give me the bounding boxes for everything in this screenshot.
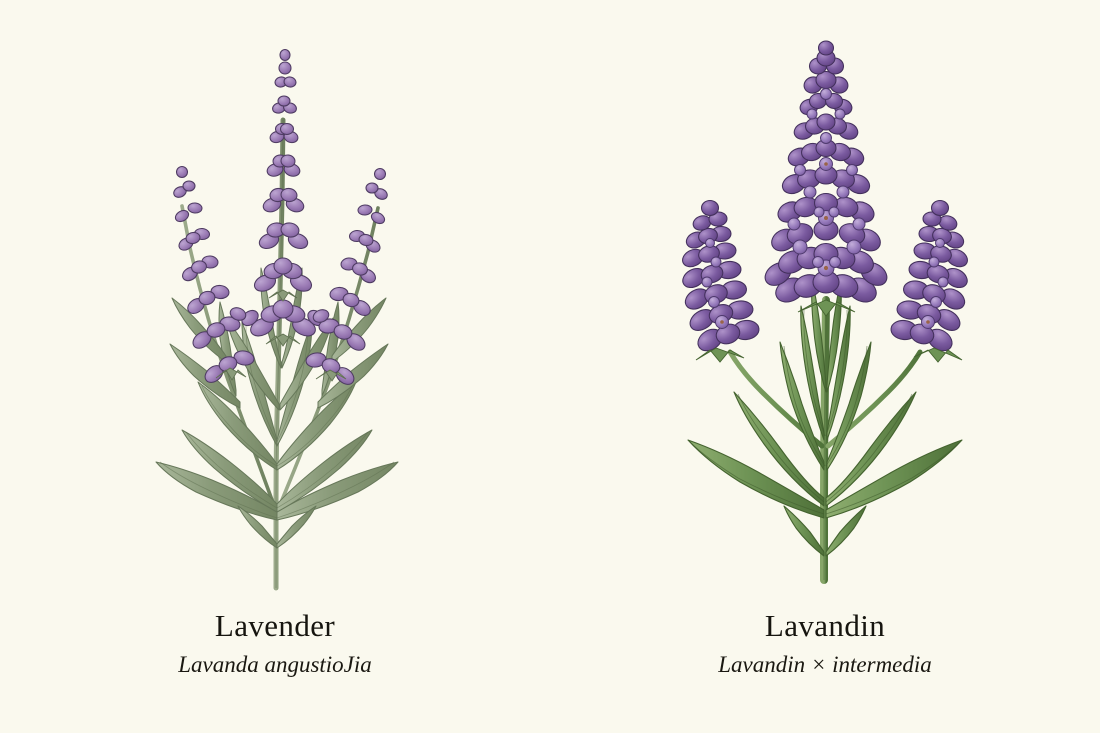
specimen-scientific-name-lavandin: Lavandin × intermedia	[550, 652, 1100, 678]
lavandin-illustration	[550, 0, 1100, 600]
lavandin-plant	[679, 41, 970, 580]
specimen-scientific-name-lavender: Lavanda angustioJia	[0, 652, 550, 678]
specimen-panel-lavender: Lavender Lavanda angustioJia	[0, 0, 550, 733]
specimen-panel-lavandin: Lavandin Lavandin × intermedia	[550, 0, 1100, 733]
lavandin-spike-left	[679, 201, 760, 356]
lavender-illustration	[0, 0, 550, 600]
specimen-common-name-lavender: Lavender	[0, 608, 550, 644]
botanical-comparison-plate: Lavender Lavanda angustioJia	[0, 0, 1100, 733]
lavender-plant	[156, 50, 398, 589]
lavandin-spike-right	[890, 201, 971, 356]
specimen-common-name-lavandin: Lavandin	[550, 608, 1100, 644]
